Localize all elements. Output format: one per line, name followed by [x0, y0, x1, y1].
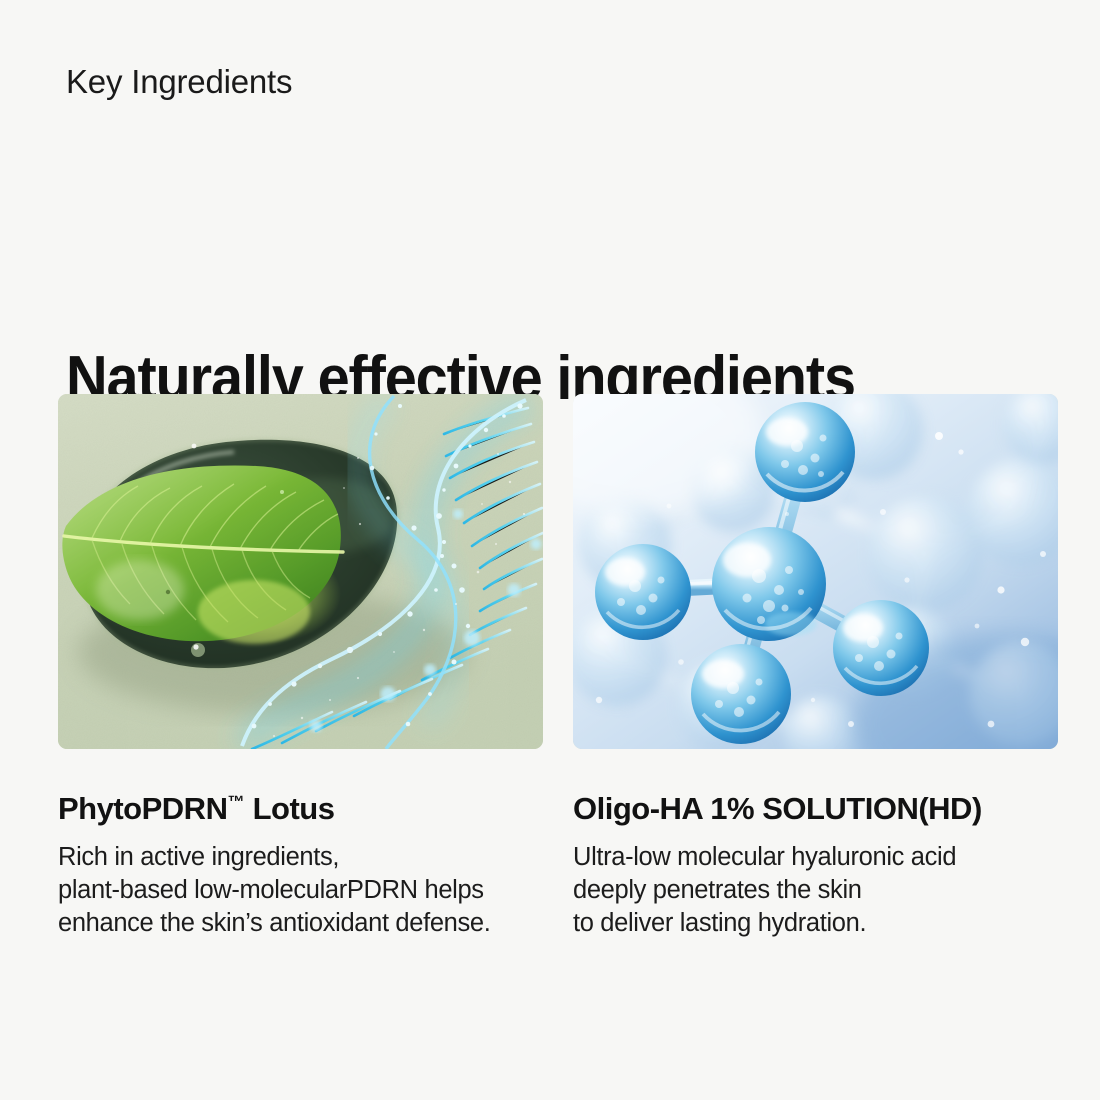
ingredient-card-phytopdrn-lotus: PhytoPDRN™ Lotus Rich in active ingredie… — [58, 394, 543, 940]
blue-molecule-image — [573, 394, 1058, 749]
key-ingredients-section: Key Ingredients Naturally effective ingr… — [0, 0, 1100, 1100]
ingredient-title-main: PhytoPDRN — [58, 791, 227, 826]
ingredient-title-suffix: Lotus — [244, 791, 334, 826]
trademark-icon: ™ — [227, 793, 244, 812]
ingredient-card-title: PhytoPDRN™ Lotus — [58, 791, 543, 827]
leaf-water-dna-image — [58, 394, 543, 749]
section-eyebrow: Key Ingredients — [66, 62, 292, 102]
ingredient-card-description: Rich in active ingredients, plant-based … — [58, 841, 543, 940]
ingredient-card-oligo-ha: Oligo-HA 1% SOLUTION(HD) Ultra-low molec… — [573, 394, 1058, 940]
ingredient-card-list: PhytoPDRN™ Lotus Rich in active ingredie… — [58, 394, 1058, 940]
ingredient-card-title: Oligo-HA 1% SOLUTION(HD) — [573, 791, 1058, 827]
ingredient-card-description: Ultra-low molecular hyaluronic acid deep… — [573, 841, 1058, 940]
